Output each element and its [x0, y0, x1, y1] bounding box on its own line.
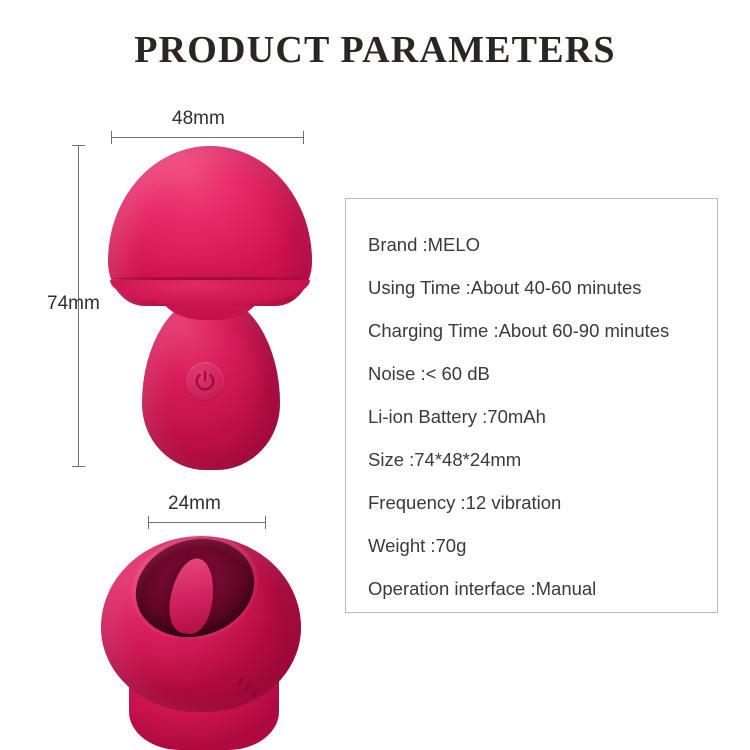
product-image-top-view — [95, 528, 325, 750]
dimension-line-width — [111, 137, 303, 138]
dimension-label-depth: 24mm — [168, 493, 221, 515]
spec-row-frequency: Frequency :12 vibration — [368, 481, 707, 524]
spec-row-using-time: Using Time :About 40-60 minutes — [368, 266, 707, 309]
spec-row-weight: Weight :70g — [368, 524, 707, 567]
specification-panel: Brand :MELO Using Time :About 40-60 minu… — [345, 198, 718, 613]
spec-row-brand: Brand :MELO — [368, 223, 707, 266]
spec-row-operation-interface: Operation interface :Manual — [368, 567, 707, 610]
product-image-front-view — [100, 140, 320, 480]
spec-row-charging-time: Charging Time :About 60-90 minutes — [368, 309, 707, 352]
spec-row-noise: Noise :< 60 dB — [368, 352, 707, 395]
product-parameters-page: { "page": { "title": "PRODUCT PARAMETERS… — [0, 0, 750, 750]
dimension-cap-height-bottom — [72, 466, 85, 467]
dimension-label-height: 74mm — [47, 293, 100, 315]
power-button-icon — [186, 362, 224, 400]
dimension-label-width: 48mm — [172, 108, 225, 130]
dimension-cap-height-top — [72, 145, 85, 146]
product-vent-slots — [235, 676, 261, 704]
spec-row-size: Size :74*48*24mm — [368, 438, 707, 481]
product-cap-seam — [112, 277, 308, 280]
dimension-line-depth — [148, 522, 265, 523]
spec-row-battery: Li-ion Battery :70mAh — [368, 395, 707, 438]
page-title: PRODUCT PARAMETERS — [0, 28, 750, 72]
specification-list: Brand :MELO Using Time :About 40-60 minu… — [368, 223, 707, 610]
power-symbol-icon — [193, 369, 217, 393]
